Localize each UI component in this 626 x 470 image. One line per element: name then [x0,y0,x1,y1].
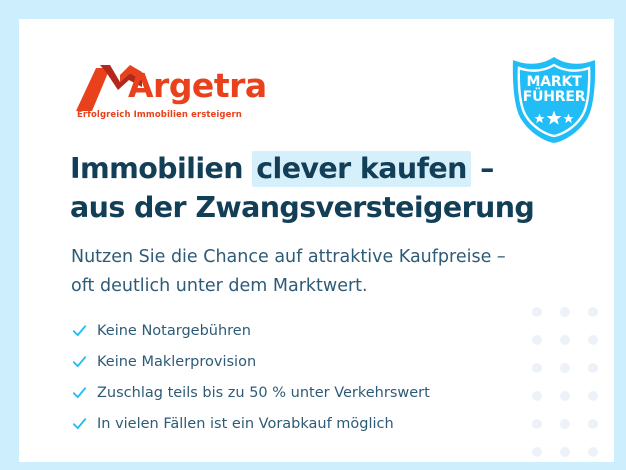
decorative-dot [532,447,542,457]
headline-line1-after: – [471,152,494,185]
list-item: Zuschlag teils bis zu 50 % unter Verkehr… [71,377,521,408]
decorative-dot [560,335,570,345]
logo-tagline: Erfolgreich Immobilien ersteigern [77,110,242,120]
decorative-dot [588,363,598,373]
decorative-dot [588,335,598,345]
list-item: In vielen Fällen ist ein Vorabkauf mögli… [71,408,521,439]
list-item-label: In vielen Fällen ist ein Vorabkauf mögli… [97,416,394,432]
argetra-logo[interactable]: Argetra Erfolgreich Immobilien ersteiger… [76,63,276,125]
shield-icon [509,55,599,145]
decorative-dot [588,447,598,457]
promo-banner: Argetra Erfolgreich Immobilien ersteiger… [0,0,626,470]
list-item: Keine Maklerprovision [71,346,521,377]
headline-line1-before: Immobilien [70,152,252,185]
decorative-dot [532,307,542,317]
check-icon [71,353,97,370]
check-icon [71,415,97,432]
subtitle: Nutzen Sie die Chance auf attraktive Kau… [71,243,551,301]
decorative-dot [532,391,542,401]
headline-highlight: clever kaufen [252,151,471,187]
logo-wordmark: Argetra [128,69,267,102]
decorative-dot [560,391,570,401]
decorative-dot [588,307,598,317]
decorative-dot [532,363,542,373]
check-icon [71,322,97,339]
page-title: Immobilien clever kaufen – aus der Zwang… [70,150,540,227]
banner-card: Argetra Erfolgreich Immobilien ersteiger… [19,19,614,462]
subtitle-line-1: Nutzen Sie die Chance auf attraktive Kau… [71,243,551,272]
subtitle-line-2: oft deutlich unter dem Marktwert. [71,272,551,301]
market-leader-badge: MARKT FÜHRER [509,55,599,145]
check-icon [71,384,97,401]
list-item-label: Keine Maklerprovision [97,354,256,370]
decorative-dot [560,447,570,457]
headline-line2: aus der Zwangsversteigerung [70,189,540,227]
list-item-label: Keine Notargebühren [97,323,251,339]
dot-grid-decoration [532,307,614,462]
list-item: Keine Notargebühren [71,315,521,346]
list-item-label: Zuschlag teils bis zu 50 % unter Verkehr… [97,385,430,401]
decorative-dot [560,419,570,429]
decorative-dot [532,419,542,429]
decorative-dot [532,335,542,345]
decorative-dot [560,307,570,317]
benefits-list: Keine NotargebührenKeine Maklerprovision… [71,315,521,439]
decorative-dot [588,419,598,429]
decorative-dot [560,363,570,373]
decorative-dot [588,391,598,401]
